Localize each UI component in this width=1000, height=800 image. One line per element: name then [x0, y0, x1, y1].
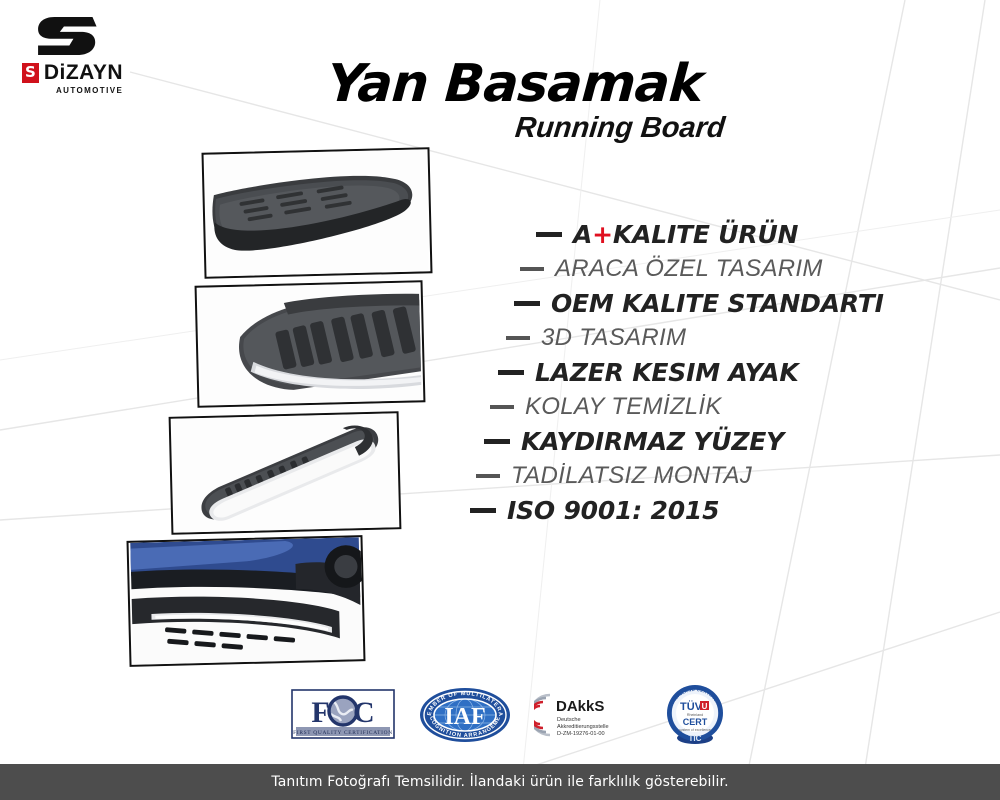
dakks-acronym: DAkkS — [556, 698, 604, 715]
page-title: Yan Basamak — [298, 54, 732, 114]
plus-symbol: + — [592, 220, 613, 249]
dakks-line2: Akkreditierungsstelle — [557, 724, 609, 730]
product-photo-angled-view — [201, 147, 432, 279]
bullet-dash-icon — [470, 508, 496, 513]
feature-item-1: ARACA ÖZEL TASARIM — [470, 255, 920, 283]
dakks-line3: D-ZM-19276-01-00 — [557, 731, 605, 737]
tuv-sub: CERT — [683, 717, 708, 727]
dakks-certification-badge: DAkkS Deutsche Akkreditierungsstelle D-Z… — [534, 689, 642, 741]
feature-item-4: LAZER KESIM AYAK — [470, 358, 920, 387]
bullet-dash-icon — [514, 301, 540, 306]
iaf-acronym: IAF — [444, 704, 485, 730]
footer-disclaimer-bar: Tanıtım Fotoğrafı Temsilidir. İlandaki ü… — [0, 764, 1000, 800]
svg-text:U: U — [702, 702, 708, 711]
feature-label-8: ISO 9001: 2015 — [507, 496, 719, 525]
logo-brand-name: DiZAYN — [44, 61, 123, 85]
tuv-ring-text: TIC — [689, 734, 702, 743]
certification-badges: FQC FIRST QUALITY CERTIFICATION — [290, 681, 710, 749]
feature-label-2: OEM KALITE STANDARTI — [551, 289, 884, 318]
feature-label-4: LAZER KESIM AYAK — [535, 358, 799, 387]
product-photo-installed-on-vehicle — [126, 535, 365, 667]
page-subtitle: Running Board — [428, 112, 811, 145]
bullet-dash-icon — [520, 267, 544, 271]
product-photo-full-length-view — [169, 411, 402, 535]
advertisement-canvas: S DiZAYN AUTOMOTIVE Yan Basamak Running … — [0, 0, 1000, 800]
logo-badge-letter: S — [22, 63, 39, 83]
feature-item-2: OEM KALITE STANDARTI — [470, 289, 920, 318]
bullet-dash-icon — [536, 232, 562, 237]
feature-item-6: KAYDIRMAZ YÜZEY — [470, 427, 920, 456]
feature-label-6: KAYDIRMAZ YÜZEY — [521, 427, 784, 456]
feature-label-3: 3D TASARIM — [541, 324, 686, 352]
feature-list: A+KALITE ÜRÜN ARACA ÖZEL TASARIM OEM KAL… — [470, 220, 920, 531]
bullet-dash-icon — [498, 370, 524, 375]
dakks-line1: Deutsche — [557, 717, 581, 723]
feature-label-5: KOLAY TEMİZLİK — [525, 393, 722, 421]
feature-item-8: ISO 9001: 2015 — [470, 496, 920, 525]
feature-label-0: A+KALITE ÜRÜN — [573, 220, 798, 249]
svg-text:system of excellence: system of excellence — [679, 728, 711, 732]
bullet-dash-icon — [506, 336, 530, 340]
feature-item-0: A+KALITE ÜRÜN — [470, 220, 920, 249]
iaf-certification-badge: IAF MEMBER OF MULTILATERAL RECOGNITION A… — [418, 686, 512, 744]
feature-item-3: 3D TASARIM — [470, 324, 920, 352]
feature-label-7: TADİLATSIZ MONTAJ — [511, 462, 752, 490]
footer-disclaimer-text: Tanıtım Fotoğrafı Temsilidir. İlandaki ü… — [271, 774, 728, 790]
bullet-dash-icon — [484, 439, 510, 444]
tuv-acronym: TÜV — [680, 700, 703, 713]
bullet-dash-icon — [490, 405, 514, 409]
feature-label-1: ARACA ÖZEL TASARIM — [555, 255, 823, 283]
tuv-cert-certification-badge: TÜV U Rheinland CERT system of excellenc… — [664, 683, 726, 747]
brand-logo: S DiZAYN AUTOMOTIVE — [20, 14, 170, 95]
logo-tagline: AUTOMOTIVE — [56, 86, 170, 95]
product-photo-top-tread-view — [195, 280, 426, 408]
fqc-caption: FIRST QUALITY CERTIFICATION — [293, 730, 393, 736]
s-monogram-logo-icon — [34, 14, 102, 58]
feature-item-5: KOLAY TEMİZLİK — [470, 393, 920, 421]
bullet-dash-icon — [476, 474, 500, 478]
fqc-certification-badge: FQC FIRST QUALITY CERTIFICATION — [290, 687, 396, 743]
feature-item-7: TADİLATSIZ MONTAJ — [470, 462, 920, 490]
